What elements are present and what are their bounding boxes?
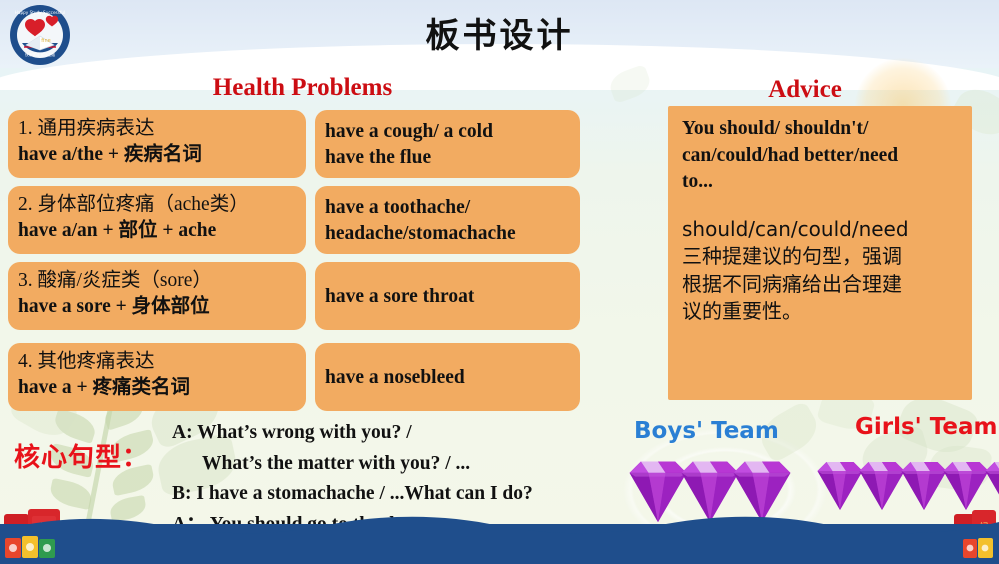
advice-english-line-2: can/could/had better/need <box>682 143 966 170</box>
small-icons-bottom-right-icon <box>962 536 996 562</box>
advice-english-block: You should/ shouldn't/ can/could/had bet… <box>682 116 966 196</box>
category-3-formula: have a sore + 身体部位 <box>18 294 296 320</box>
example-3-line-1: have a sore throat <box>325 284 474 310</box>
problem-example-box-2: have a toothache/ headache/stomachache <box>315 186 580 254</box>
advice-chinese-line-2: 三种提建议的句型，强调 <box>682 243 966 271</box>
core-pattern-label: 核心句型： <box>14 437 149 474</box>
advice-heading: Advice <box>680 76 930 104</box>
page-title: 板书设计 <box>0 8 999 57</box>
category-2-title: 2. 身体部位疼痛（ache类） <box>18 192 296 218</box>
category-3-title: 3. 酸痛/炎症类（sore） <box>18 268 296 294</box>
advice-chinese-line-1: should/can/could/need <box>682 216 966 244</box>
problem-category-box-2: 2. 身体部位疼痛（ache类） have a/an + 部位 + ache <box>8 186 306 254</box>
advice-english-line-3: to... <box>682 169 966 196</box>
gem-icon <box>942 450 990 516</box>
girls-team-label: Girls' Team <box>855 414 997 440</box>
advice-panel: You should/ shouldn't/ can/could/had bet… <box>668 106 972 400</box>
advice-chinese-line-4: 议的重要性。 <box>682 298 966 326</box>
problem-example-box-1: have a cough/ a cold have the flue <box>315 110 580 178</box>
advice-chinese-block: should/can/could/need 三种提建议的句型，强调 根据不同病痛… <box>682 216 966 326</box>
example-2-line-1: have a toothache/ <box>325 195 570 221</box>
category-2-formula: have a/an + 部位 + ache <box>18 218 296 244</box>
bottom-wave-decoration <box>0 514 999 536</box>
dialogue-line-1: A: What’s wrong with you? / <box>172 418 642 449</box>
gem-icon <box>984 450 999 516</box>
category-4-formula: have a + 疼痛类名词 <box>18 375 296 401</box>
gem-icon <box>816 450 864 516</box>
example-1-line-2: have the flue <box>325 145 570 171</box>
problem-category-box-3: 3. 酸痛/炎症类（sore） have a sore + 身体部位 <box>8 262 306 330</box>
dialogue-line-2: What’s the matter with you? / ... <box>172 449 642 480</box>
problem-category-box-4: 4. 其他疼痛表达 have a + 疼痛类名词 <box>8 343 306 411</box>
problem-example-box-3: have a sore throat <box>315 262 580 330</box>
health-problems-heading: Health Problems <box>130 74 475 102</box>
slide-canvas: Happy Study Successful 快乐学习 成功之路 fine 板书… <box>0 0 999 564</box>
advice-chinese-line-3: 根据不同病痛给出合理建 <box>682 271 966 299</box>
dialogue-line-3: B: I have a stomachache / ...What can I … <box>172 479 642 510</box>
gem-icon <box>858 450 906 516</box>
girls-team-gem-row <box>816 450 999 516</box>
example-2-line-2: headache/stomachache <box>325 221 570 247</box>
problem-category-box-1: 1. 通用疾病表达 have a/the + 疾病名词 <box>8 110 306 178</box>
example-1-line-1: have a cough/ a cold <box>325 119 570 145</box>
problem-example-box-4: have a nosebleed <box>315 343 580 411</box>
category-4-title: 4. 其他疼痛表达 <box>18 349 296 375</box>
small-icons-bottom-left-icon <box>4 534 60 564</box>
category-1-title: 1. 通用疾病表达 <box>18 116 296 142</box>
advice-english-line-1: You should/ shouldn't/ <box>682 116 966 143</box>
gem-icon <box>900 450 948 516</box>
boys-team-label: Boys' Team <box>634 418 779 444</box>
category-1-formula: have a/the + 疾病名词 <box>18 142 296 168</box>
example-4-line-1: have a nosebleed <box>325 365 465 391</box>
